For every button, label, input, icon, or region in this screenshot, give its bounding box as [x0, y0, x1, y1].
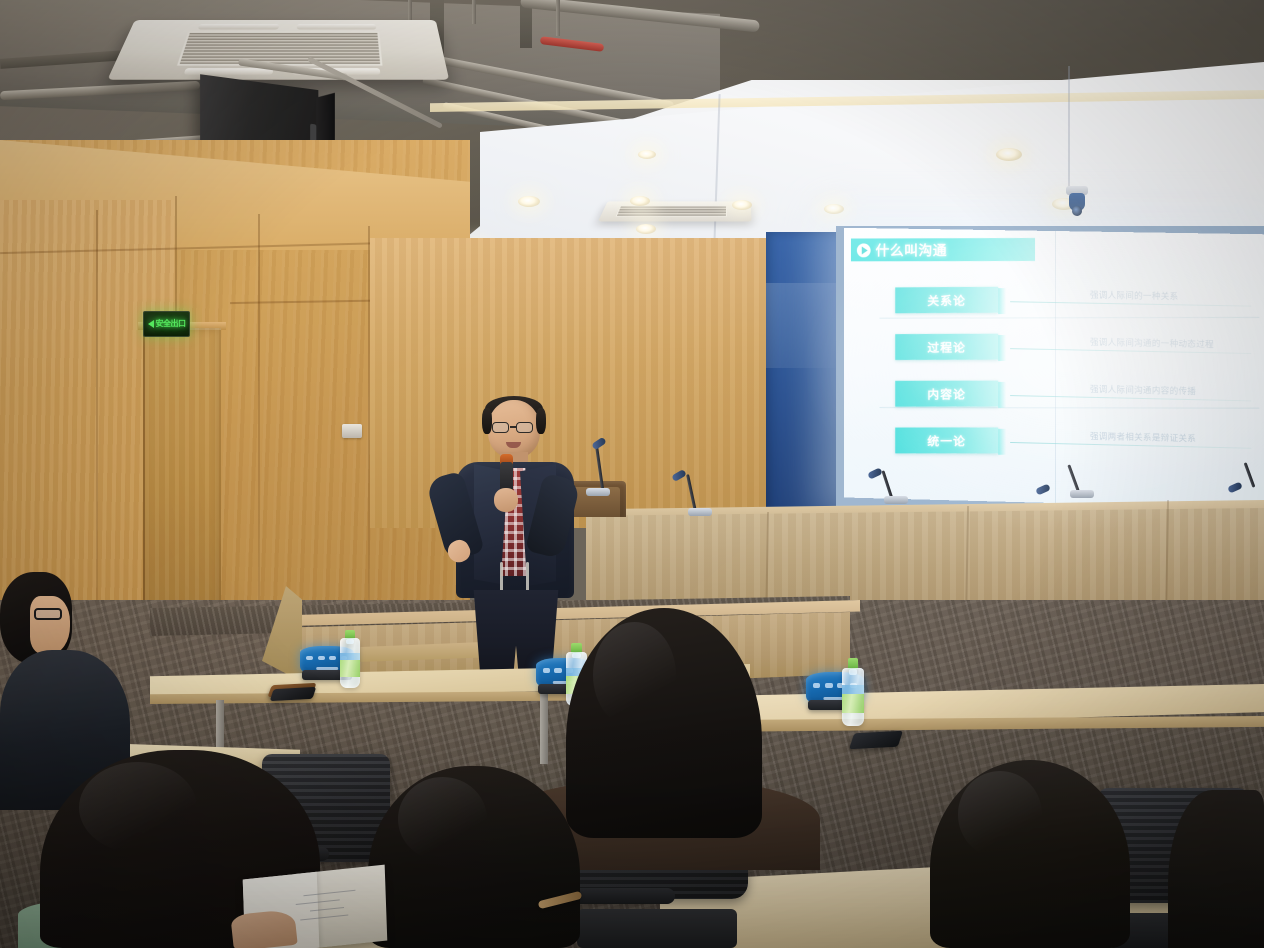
wall-access-plate [342, 424, 362, 438]
exit-sign-text: 安全出口 [156, 320, 186, 328]
terminal-button-icon[interactable] [825, 683, 832, 688]
hair-highlight [958, 771, 1042, 857]
chip-tail [998, 429, 1006, 455]
ac-vane [184, 68, 273, 75]
ceiling-downlight [638, 150, 656, 159]
slide-chip: 关系论 [895, 287, 998, 314]
presenter [430, 392, 590, 692]
photo-scene: 安全出口 什么叫沟通 关系论 强调人际间的一种关系 过程论 [0, 0, 1264, 948]
ac-vane [198, 24, 279, 29]
ceiling-downlight [824, 204, 844, 214]
smartphone[interactable] [849, 731, 903, 750]
slide-chip-label: 过程论 [927, 338, 966, 355]
slide-chip: 内容论 [895, 381, 998, 407]
ac-grille [177, 31, 383, 66]
chip-tail [998, 335, 1006, 361]
microphone-base [1070, 490, 1094, 498]
ceiling-downlight [996, 148, 1022, 161]
wall-panel-seam [96, 210, 98, 650]
presenter-hair-side [536, 408, 546, 434]
slide-chip-label: 内容论 [927, 385, 966, 402]
slide-chip: 统一论 [895, 427, 998, 453]
water-bottle[interactable] [340, 638, 360, 688]
water-bottle[interactable] [842, 668, 864, 726]
play-icon [857, 243, 871, 257]
emergency-exit-sign: 安全出口 [143, 311, 190, 337]
exit-arrow-icon [148, 320, 154, 328]
screen-panel-seam [1055, 231, 1056, 503]
audience-member-face [30, 596, 70, 654]
terminal-button-icon[interactable] [813, 683, 820, 688]
bottle-label [340, 660, 360, 677]
exit-door[interactable] [143, 328, 221, 610]
jacket-drawstring [500, 562, 503, 592]
bottle-label-band [842, 685, 864, 693]
terminal-button-icon[interactable] [329, 656, 336, 660]
glasses-icon [492, 422, 509, 433]
pipe-hanger [472, 0, 476, 24]
play-triangle-icon [862, 246, 868, 254]
slide-chip-label: 统一论 [927, 432, 966, 449]
terminal-button-icon[interactable] [543, 668, 550, 672]
ceiling-seam [1068, 66, 1070, 192]
projection-screen: 什么叫沟通 关系论 强调人际间的一种关系 过程论 强调人际间沟通的一种动态过程 … [844, 228, 1264, 509]
chip-tail [998, 288, 1006, 314]
ceiling-downlight [630, 196, 650, 206]
smartphone[interactable] [270, 687, 317, 701]
ceiling-downlight [732, 200, 752, 210]
chair-armrest [566, 888, 675, 904]
ac-vane [296, 24, 376, 29]
ceiling-downlight [518, 196, 540, 207]
hair-highlight [593, 622, 675, 728]
ac-grille [616, 205, 728, 216]
terminal-button-icon[interactable] [306, 656, 313, 660]
chair-seat [577, 909, 737, 948]
microphone-base [884, 496, 908, 504]
bottle-label-band [340, 653, 360, 660]
terminal-button-icon[interactable] [554, 668, 561, 672]
glasses-icon [516, 422, 533, 433]
hair-highlight [79, 762, 197, 853]
slide-chip: 过程论 [895, 334, 998, 360]
ceiling-ac-unit-secondary [598, 201, 752, 221]
slide-title: 什么叫沟通 [876, 240, 948, 260]
glasses-icon [34, 608, 62, 620]
audience-hand [230, 909, 297, 948]
audience-member-head [1168, 790, 1264, 948]
slide-row: 关系论 [895, 284, 1255, 321]
wall-panel-seam [258, 214, 260, 634]
hair-highlight [398, 777, 487, 861]
camera-lens-icon [1072, 206, 1082, 216]
pipe-hanger [556, 0, 560, 36]
slide-title-bar: 什么叫沟通 [851, 238, 1035, 261]
chip-tail [998, 382, 1006, 408]
screen-glare [844, 228, 1264, 509]
table-leg [540, 694, 548, 764]
bottle-label [842, 694, 864, 714]
presenter-right-hand [494, 488, 518, 512]
slide-chip-label: 关系论 [927, 291, 966, 308]
jacket-drawstring [526, 562, 529, 592]
microphone-base [688, 508, 712, 516]
panel-gloss-reflection [766, 283, 842, 368]
ceiling-downlight [636, 224, 656, 234]
accent-wall-panel [766, 232, 842, 515]
glasses-bridge [510, 426, 517, 428]
presenter-hair-side [482, 408, 492, 434]
terminal-button-icon[interactable] [318, 656, 325, 660]
